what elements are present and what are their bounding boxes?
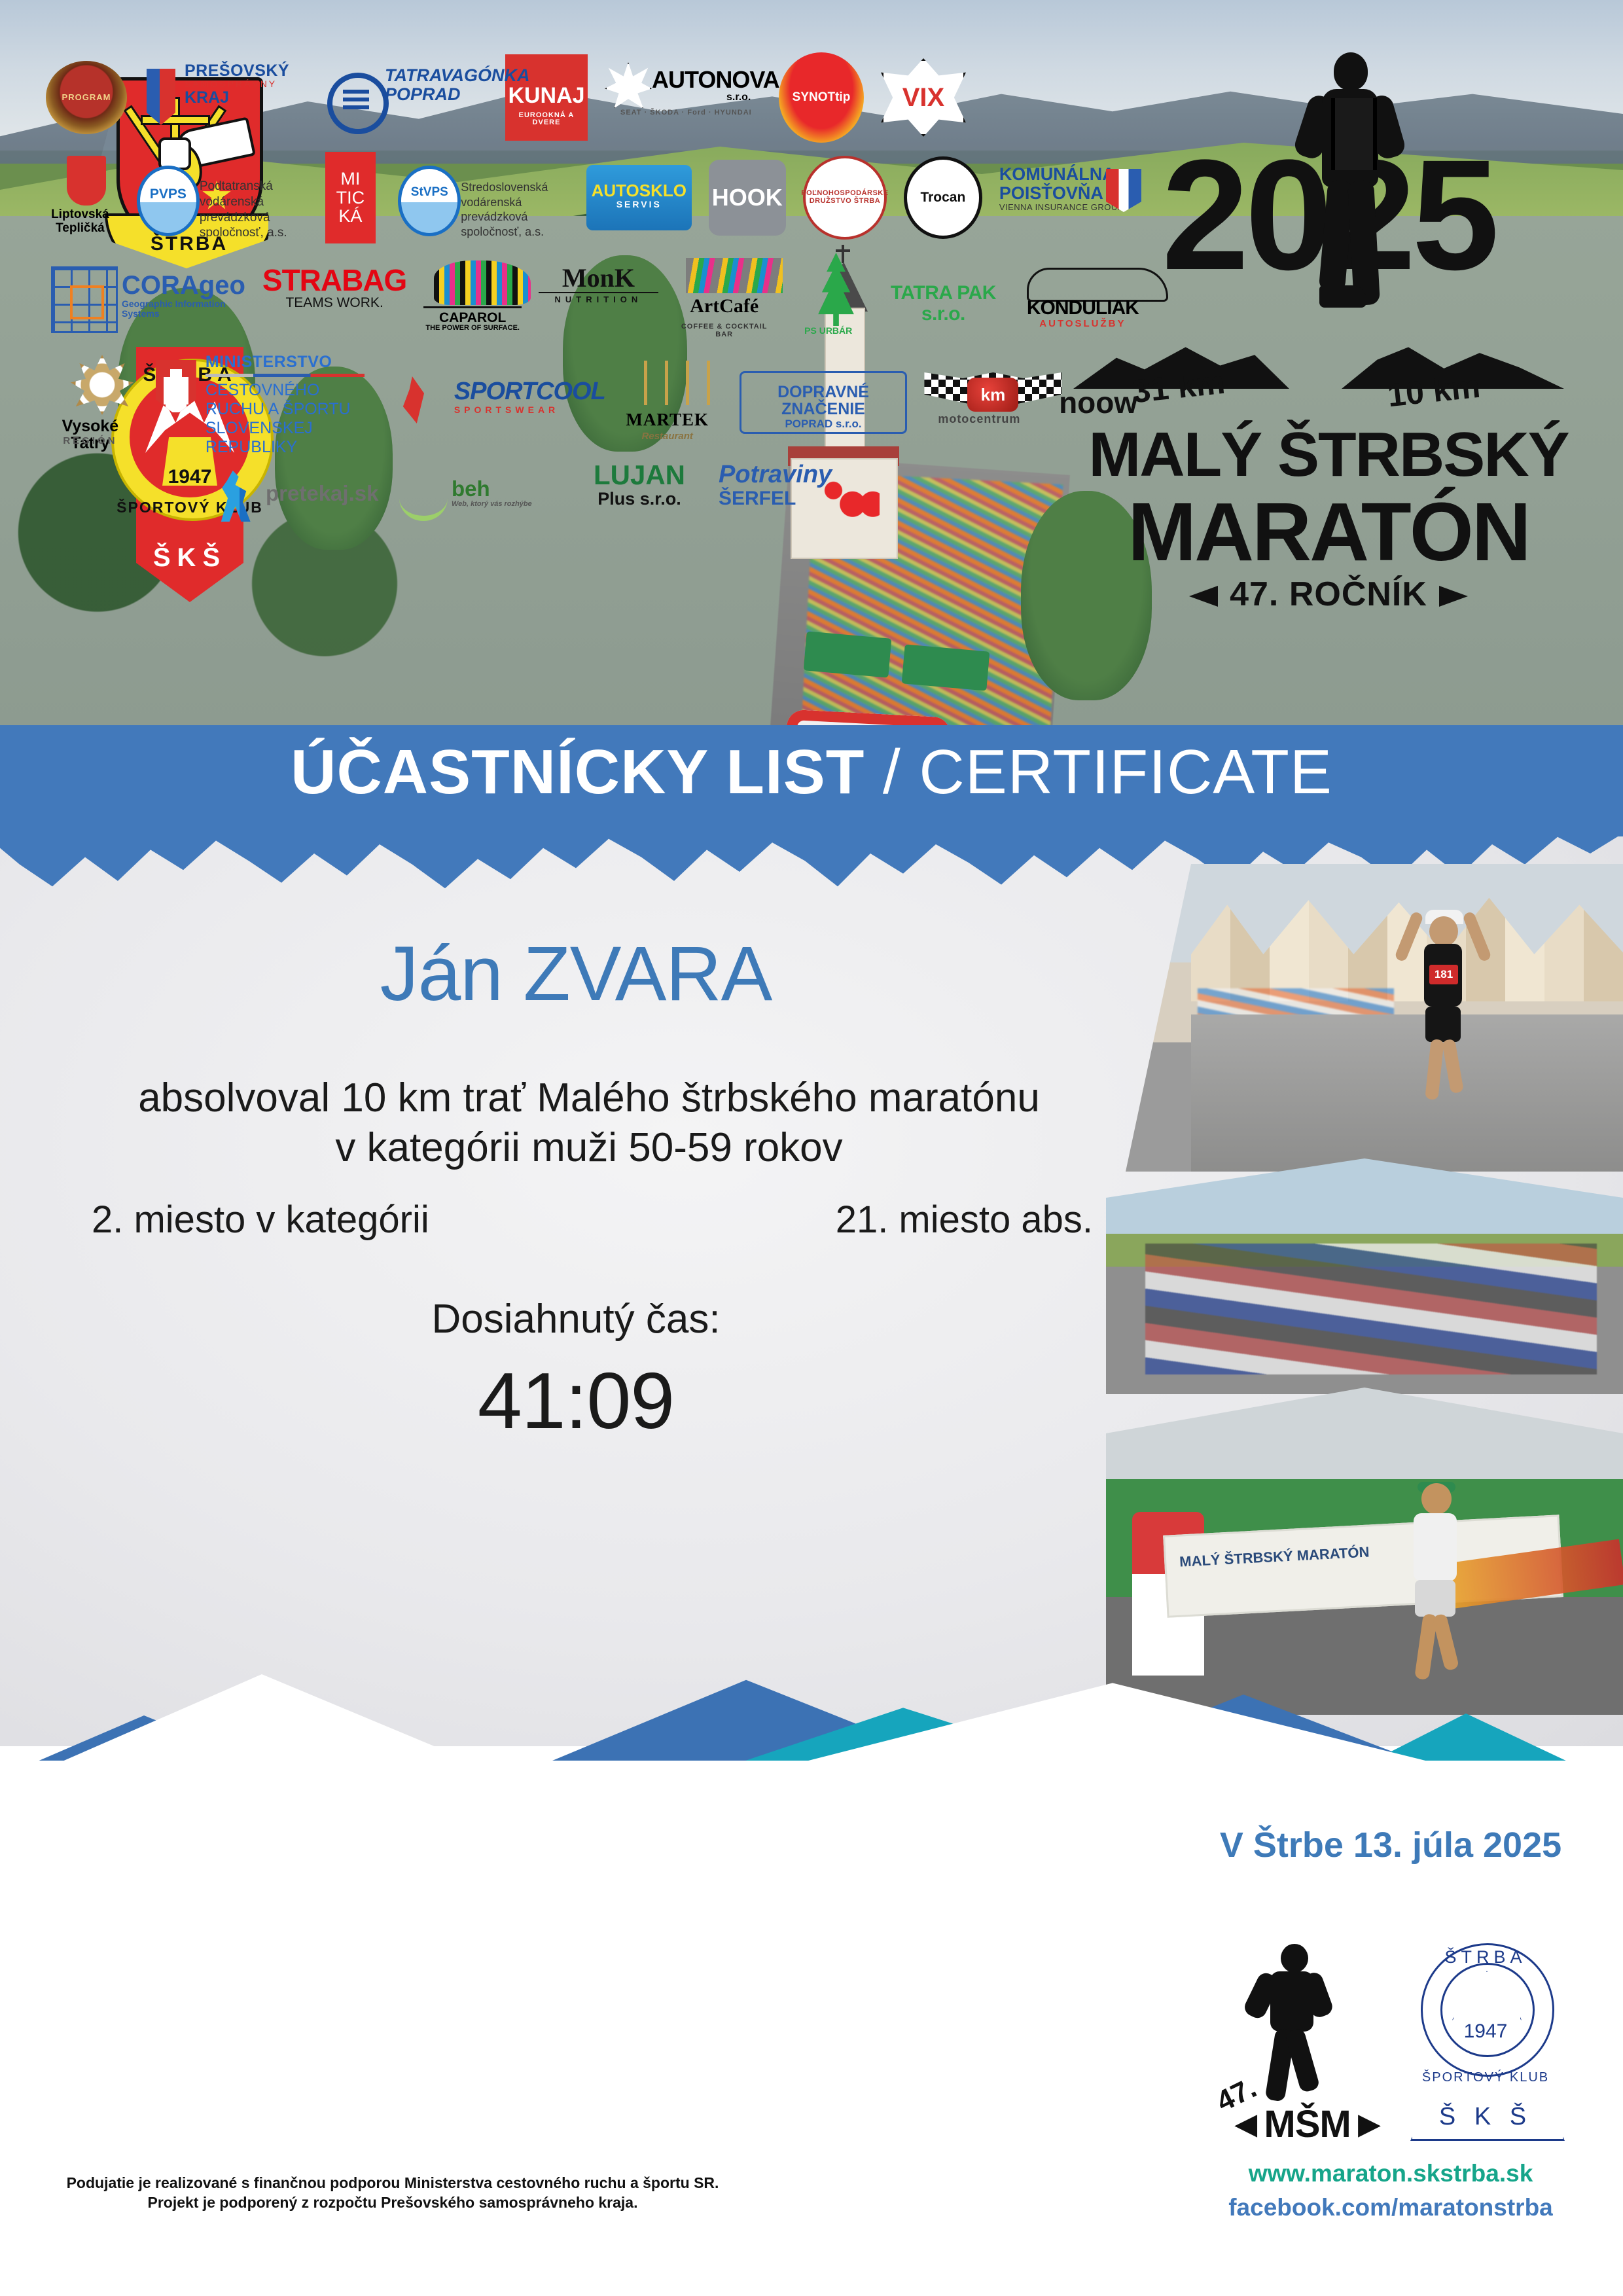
sponsor-autosklo-servis[interactable]: AUTOSKLO SERVIS — [586, 165, 692, 230]
sponsor-line-3: KRAJ — [185, 89, 308, 106]
sponsor-caparol[interactable]: CAPAROL THE POWER OF SURFACE. — [423, 260, 522, 336]
description-line-2: v kategórii muži 50-59 rokov — [85, 1123, 1093, 1173]
photo-collage: 181 MALÝ ŠTRBSKÝ MARATÓN — [1106, 864, 1623, 1715]
sponsor-line-1: beh — [452, 466, 560, 501]
flag-icon — [147, 69, 175, 125]
sponsor-km-motocentrum[interactable]: km motocentrum — [924, 368, 1034, 437]
seal-bottom-text: ŠPORTOVÝ KLUB — [1404, 2070, 1567, 2085]
seal-abbrev: Š K Š — [1404, 2103, 1567, 2131]
elephant-icon — [434, 260, 531, 305]
runner-silhouette-icon — [1302, 52, 1400, 334]
sponsor-line-1: DOPRAVNÉ ZNAČENIE — [777, 383, 869, 418]
seal-year: 1947 — [1404, 2020, 1567, 2043]
runner-silhouette-icon — [1251, 1944, 1329, 2101]
sponsor-text: Stredoslovenská vodárenská prevádzková s… — [461, 162, 569, 239]
sponsor-line-3: Web, ktorý vás rozhýbe — [452, 501, 560, 509]
green-tent — [804, 631, 892, 677]
sponsor-ps-urban-strba[interactable]: PS URBÁR — [791, 253, 866, 344]
sponsor-line-2: COFFEE & COCKTAIL BAR — [675, 323, 774, 338]
sponsor-text: Podtatranská vodárenská prevádzková spol… — [200, 162, 308, 241]
sponsor-line-2: TEAMS WORK. — [262, 296, 406, 310]
place-absolute: 21. miesto abs. — [836, 1198, 1093, 1242]
shield-icon — [67, 156, 106, 206]
edelweiss-icon — [71, 355, 134, 415]
sponsor-line-2: motocentrum — [924, 413, 1034, 425]
sponsor-line-1: MonK — [562, 263, 635, 293]
sponsor-line-2: POPRAD — [385, 85, 488, 104]
certificate-title-en: CERTIFICATE — [919, 737, 1332, 807]
sponsor-hook[interactable]: HOOK — [709, 160, 786, 236]
sponsor-pretekaj-sk[interactable]: pretekaj.sk — [216, 467, 380, 526]
club-abbrev: ŠKŠ — [98, 543, 281, 573]
sponsor-row-1: PROGRAM PREŠOVSKÝ SAMOSPRÁVNY KRAJ TATRA… — [46, 52, 1145, 143]
seal-top-text: ŠTRBA — [1404, 1947, 1567, 1967]
color-bars-icon — [686, 258, 783, 293]
race-edition: 47. ROČNÍK — [1230, 575, 1427, 613]
sponsor-lujan-plus[interactable]: LUJAN Plus s.r.o. — [577, 461, 702, 531]
time-value: 41:09 — [0, 1355, 1152, 1446]
runner-icon — [219, 471, 260, 522]
sponsor-line-1: KOMUNÁLNA POISŤOVŇA — [999, 164, 1115, 203]
finish-banner-text: MALÝ ŠTRBSKÝ MARATÓN — [1179, 1543, 1370, 1570]
sponsor-monk-nutrition[interactable]: MonK NUTRITION — [539, 264, 658, 332]
sponsor-line-1: CAPAROL — [423, 306, 522, 325]
placement-row: 2. miesto v kategórii 21. miesto abs. — [92, 1198, 1093, 1242]
sponsor-corageo[interactable]: CORAgeo Geographic Information Systems — [46, 262, 245, 334]
sponsor-line-1: PREŠOVSKÝ — [185, 62, 308, 79]
sponsor-line-1: AUTONOVA — [652, 67, 779, 92]
sponsor-noow[interactable]: noow — [1051, 370, 1145, 435]
certificate-title-sk: ÚČASTNÍCKY LIST — [291, 737, 865, 807]
arc-icon — [399, 475, 448, 521]
runner-figure: 181 — [1400, 897, 1486, 1113]
photo-finish-woman: 181 — [1126, 864, 1623, 1172]
sponsor-vix[interactable]: VIX — [881, 58, 966, 137]
sponsor-stvps[interactable]: StVPS Stredoslovenská vodárenská prevádz… — [393, 162, 569, 234]
sponsor-autonova[interactable]: AUTONOVA s.r.o. SEAT · ŠKODA · Ford · HY… — [605, 58, 762, 137]
sponsor-line-1: KUNAJ — [505, 84, 588, 108]
grid-icon — [51, 266, 118, 333]
sponsor-line-1: Trocan — [920, 190, 965, 205]
footer-right-column: V Štrbe 13. júla 2025 47. ◄MŠM► ŠTRBA 19… — [1158, 1806, 1623, 2291]
sponsor-program-trencin[interactable]: PROGRAM — [46, 61, 127, 134]
sponsor-row-2: Liptovská Tepličká PVPS Podtatranská vod… — [46, 152, 1145, 243]
place-category: 2. miesto v kategórii — [92, 1198, 429, 1242]
sponsor-line-2: THE POWER OF SURFACE. — [423, 325, 522, 332]
sponsor-line-2: AUTOSLUŽBY — [1020, 319, 1145, 329]
description-line-1: absolvoval 10 km trať Malého štrbského m… — [85, 1073, 1093, 1123]
footer-logos: 47. ◄MŠM► ŠTRBA 1947 ŠPORTOVÝ KLUB Š K Š — [1158, 1924, 1623, 2153]
sponsor-line-2: s.r.o. — [726, 92, 751, 103]
participant-name: Ján ZVARA — [0, 929, 1152, 1018]
sponsor-trocan-pizza[interactable]: Trocan — [904, 156, 982, 239]
msm-abbrev: ◄MŠM► — [1227, 2102, 1387, 2146]
sponsor-komunalna-poistovna[interactable]: KOMUNÁLNA POISŤOVŇA VIENNA INSURANCE GRO… — [999, 165, 1145, 230]
sponsor-line-2: CESTOVNÉHO RUCHU A ŠPORTU SLOVENSKEJ REP… — [205, 381, 382, 457]
tree-icon — [813, 253, 860, 326]
sponsor-strabag[interactable]: STRABAG TEAMS WORK. — [262, 264, 406, 332]
sponsor-line-2: REGIÓN — [46, 436, 135, 446]
sponsor-line-1: ArtCafé — [675, 296, 774, 317]
sponsor-ministerstvo-sr[interactable]: MINISTERSTVO CESTOVNÉHO RUCHU A ŠPORTU S… — [152, 353, 382, 452]
sponsor-line-1: CORAgeo — [122, 262, 245, 299]
sponsor-line-1: MINISTERSTVO — [205, 353, 382, 370]
sponsor-line-2: Restaurant — [613, 431, 722, 442]
sponsor-line-1: km — [967, 378, 1018, 412]
photo-runner-group — [1106, 1158, 1623, 1394]
tricolor-rule — [205, 374, 365, 377]
sponsor-sportcool[interactable]: SPORTCOOL SPORTSWEAR — [399, 367, 596, 438]
sponsor-vysoke-tatry[interactable]: Vysoké Tatry REGIÓN — [46, 355, 135, 450]
sponsor-row-4: Vysoké Tatry REGIÓN MINISTERSTVO CESTOVN… — [46, 353, 1145, 452]
certificate-body: Ján ZVARA absolvoval 10 km trať Malého š… — [0, 870, 1152, 1695]
certificate-description: absolvoval 10 km trať Malého štrbského m… — [85, 1073, 1093, 1172]
runner-pack — [1145, 1244, 1597, 1374]
sponsor-liptovska-teplicka[interactable]: Liptovská Tepličká — [46, 156, 115, 240]
sponsor-line-2: POPRAD s.r.o. — [741, 418, 906, 430]
starburst-icon — [605, 62, 652, 109]
sponsor-tatravagonka-poprad[interactable]: TATRAVAGÓNKA POPRAD — [325, 66, 488, 129]
sponsor-synot-tip[interactable]: SYNOTtip — [779, 52, 864, 143]
slovak-coat-icon — [156, 360, 196, 415]
club-seal: ŠTRBA 1947 ŠPORTOVÝ KLUB Š K Š — [1404, 1934, 1567, 2144]
sponsor-line-2: Geographic Information Systems — [122, 299, 245, 318]
sponsor-line-3: SEAT · ŠKODA · Ford · HYUNDAI — [620, 109, 752, 117]
date-place: V Štrbe 13. júla 2025 — [1158, 1825, 1623, 1865]
bib-number: 181 — [1429, 965, 1458, 984]
certificate-title: ÚČASTNÍCKY LIST / CERTIFICATE — [0, 741, 1623, 804]
sponsor-konduliak[interactable]: KONDULIAK AUTOSLUŽBY — [1020, 265, 1145, 332]
sponsor-line-2: SERVIS — [586, 200, 692, 209]
swoosh-icon — [403, 376, 449, 423]
arrow-right-icon — [1439, 586, 1468, 607]
time-label: Dosiahnutý čas: — [0, 1296, 1152, 1342]
sponsor-line-2: EUROOKNÁ A DVERE — [505, 112, 588, 127]
sponsor-pvps[interactable]: PVPS Podtatranská vodárenská prevádzková… — [132, 162, 308, 234]
race-edition-row: 47. ROČNÍK — [1060, 575, 1597, 614]
sponsor-abbrev: PVPS — [137, 166, 200, 236]
sponsor-line-2: SAMOSPRÁVNY — [185, 79, 308, 89]
sponsor-beh-sk[interactable]: beh Web, ktorý vás rozhýbe — [397, 466, 560, 526]
sponsor-line-1: TATRAVAGÓNKA — [385, 66, 488, 85]
sponsor-row-5: pretekaj.sk beh Web, ktorý vás rozhýbe L… — [46, 461, 1145, 531]
oval-icon — [327, 73, 389, 134]
msm-logo: 47. ◄MŠM► — [1214, 1931, 1364, 2147]
sponsor-line-1: LUJAN — [594, 459, 685, 490]
green-tent — [902, 644, 990, 691]
arrow-left-icon — [1189, 586, 1218, 607]
sponsor-line-1: KONDULIAK — [1020, 298, 1145, 319]
sponsor-tatrapak[interactable]: TATRA PAK s.r.o. — [883, 266, 1003, 331]
facebook-link[interactable]: facebook.com/maratonstrba — [1158, 2194, 1623, 2221]
sponsor-row-3: CORAgeo Geographic Information Systems S… — [46, 253, 1145, 344]
sponsor-martek-restaurant[interactable]: MARTEK Restaurant — [613, 361, 722, 444]
website-link[interactable]: www.maraton.skstrba.sk — [1158, 2160, 1623, 2187]
sponsor-line-1: SPORTCOOL — [454, 367, 596, 405]
sponsor-label: pretekaj.sk — [266, 467, 380, 505]
sponsor-line-1: STRABAG — [262, 263, 406, 297]
sponsor-line-2: SPORTSWEAR — [454, 405, 596, 415]
certificate-title-sep: / — [865, 737, 919, 807]
sponsor-abbrev: StVPS — [398, 166, 461, 236]
sponsor-line-1: PS URBÁR — [791, 326, 866, 336]
sponsor-line-1: AUTOSKLO — [592, 181, 687, 200]
sponsor-pd-strba[interactable]: POĽNOHOSPODÁRSKE DRUŽSTVO ŠTRBA — [803, 156, 887, 240]
sponsor-artcafe[interactable]: ArtCafé COFFEE & COCKTAIL BAR — [675, 258, 774, 339]
sponsor-line-2: NUTRITION — [539, 292, 658, 304]
funding-note: Podujatie je realizované s finančnou pod… — [46, 2173, 740, 2213]
cutlery-icon — [635, 361, 726, 409]
sponsor-line-2: Plus s.r.o. — [577, 490, 702, 508]
sponsor-presovsky-kraj[interactable]: PREŠOVSKÝ SAMOSPRÁVNY KRAJ — [144, 62, 308, 133]
sponsor-grid: PROGRAM PREŠOVSKÝ SAMOSPRÁVNY KRAJ TATRA… — [46, 52, 1145, 458]
sponsor-line-1: MARTEK — [613, 410, 722, 429]
dots-icon — [823, 479, 880, 517]
sponsor-dopravne-znacenie-poprad[interactable]: DOPRAVNÉ ZNAČENIE POPRAD s.r.o. — [740, 371, 908, 434]
sponsor-label: Liptovská Tepličká — [46, 208, 115, 236]
sponsor-miticka[interactable]: MI TIC KÁ — [325, 152, 376, 243]
sponsor-potraviny-serfel[interactable]: Potraviny ŠERFEL — [719, 462, 882, 530]
